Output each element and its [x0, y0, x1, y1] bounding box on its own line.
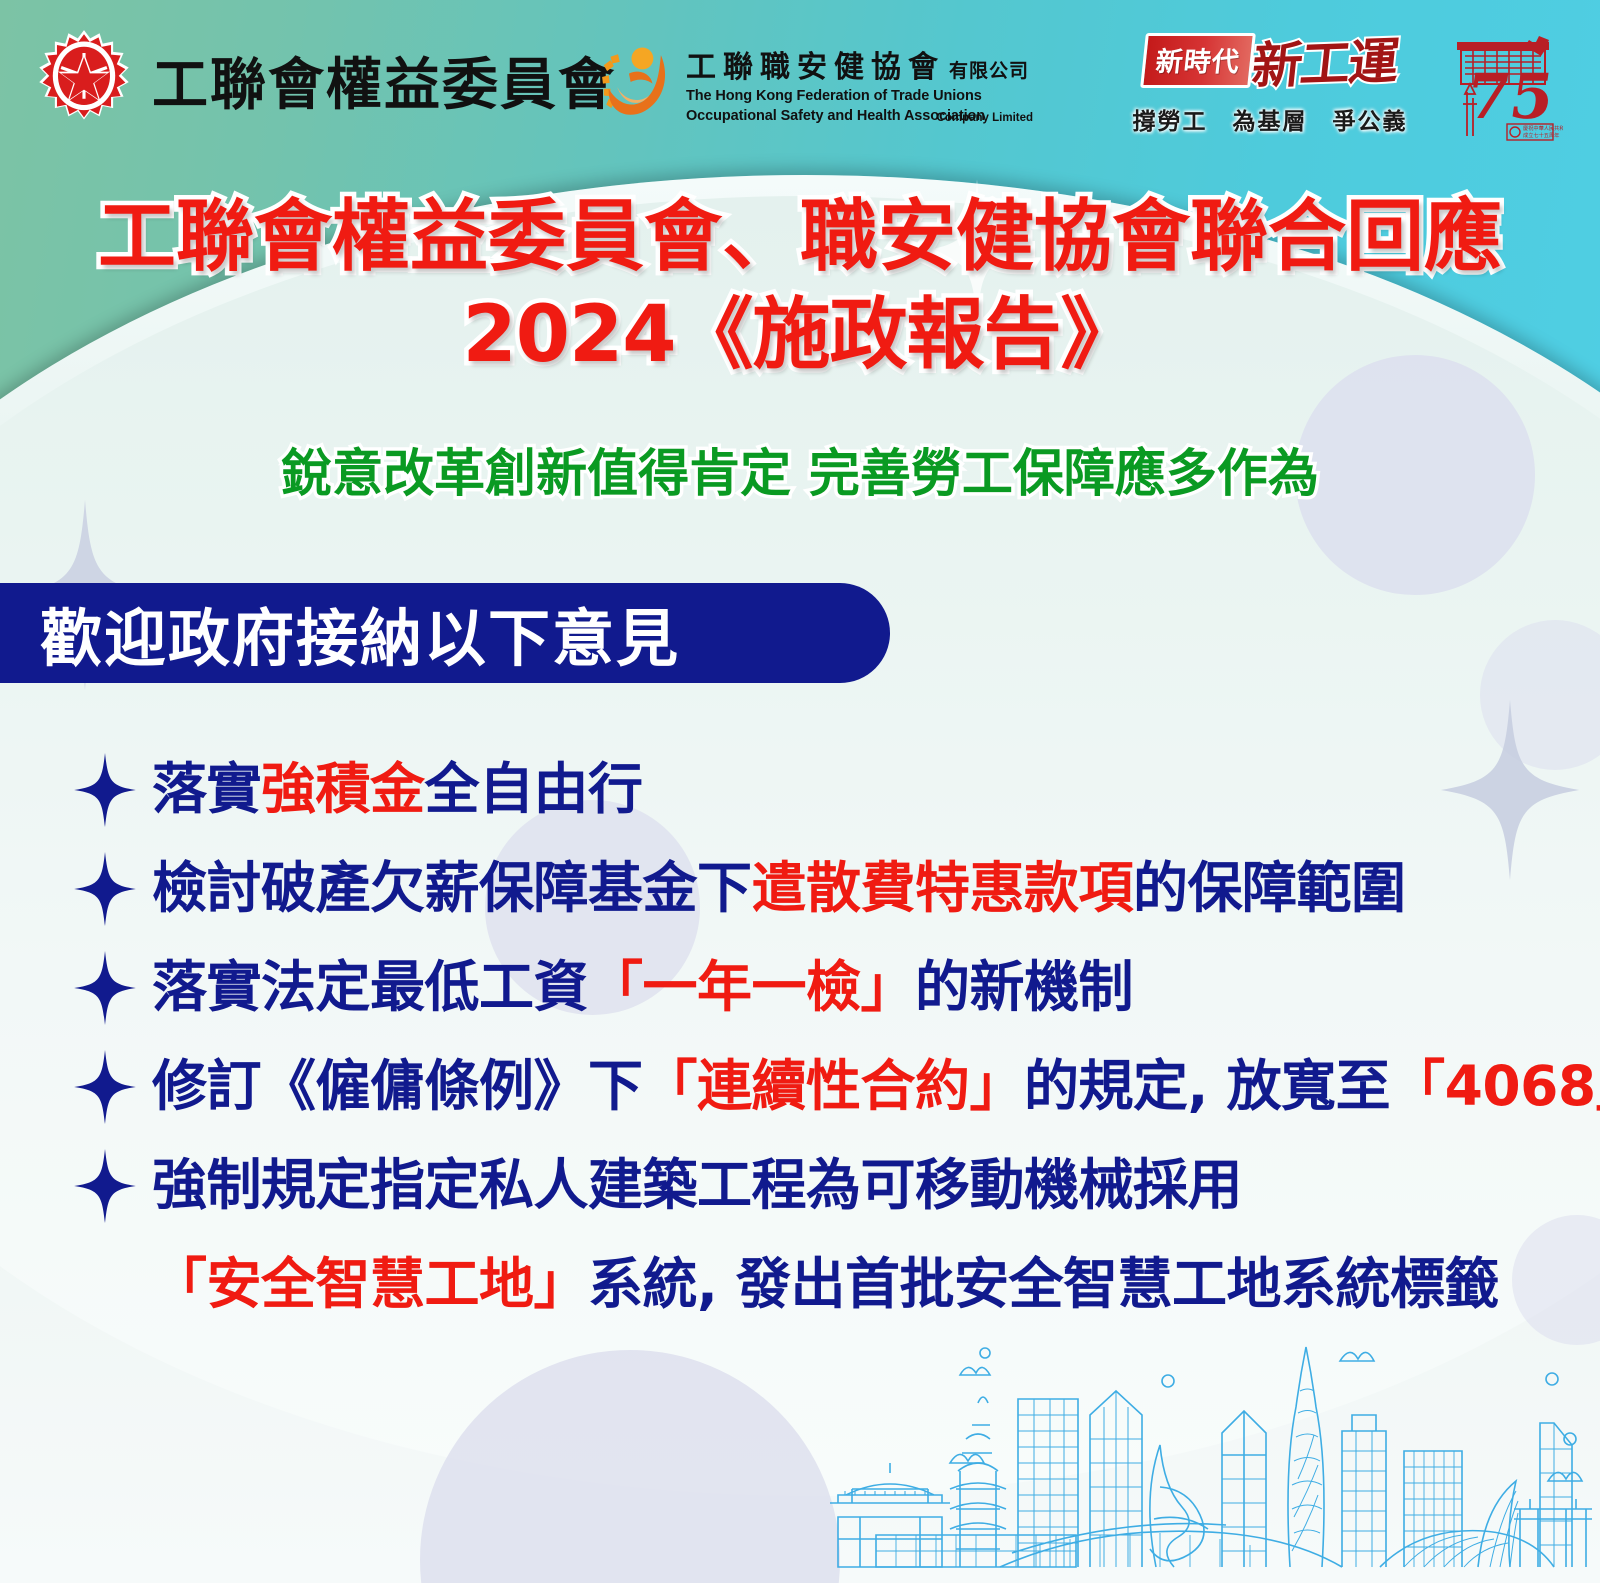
recommendation-text: 落實法定最低工資「一年一檢」的新機制 [152, 938, 1133, 1037]
title-line-1: 工聯會權益委員會、職安健協會聯合回應 [0, 188, 1600, 286]
osh-person-gear-logo-icon [592, 40, 676, 124]
four-point-star-bullet-icon [74, 1136, 152, 1235]
recommendation-text-segment: 的新機制 [915, 955, 1133, 1019]
recommendation-list: 落實強積金全自由行檢討破產欠薪保障基金下遣散費特惠款項的保障範圍落實法定最低工資… [0, 740, 1600, 1334]
four-point-star-bullet-icon [74, 1037, 152, 1136]
recommendation-text-segment: 強積金 [261, 757, 425, 821]
recommendation-text-segment: 「一年一檢」 [588, 955, 915, 1019]
recommendation-text-segment: 遣散費特惠款項 [752, 856, 1134, 920]
recommendation-text: 強制規定指定私人建築工程為可移動機械採用 [152, 1136, 1242, 1235]
recommendation-text-segment: 的規定, 放寬至 [1024, 1054, 1390, 1118]
recommendation-item: 落實法定最低工資「一年一檢」的新機制 [0, 938, 1600, 1037]
recommendation-text-segment: 檢討破產欠薪保障基金下 [152, 856, 752, 920]
section-banner: 歡迎政府接納以下意見 [0, 583, 890, 683]
recommendation-text: 修訂《僱傭條例》下「連續性合約」的規定, 放寬至「4068」 [152, 1037, 1600, 1136]
city-skyline-outline-icon [0, 1303, 1600, 1583]
recommendation-text: 「安全智慧工地」系統, 發出首批安全智慧工地系統標籤 [152, 1235, 1499, 1334]
recommendation-text-segment: 落實 [152, 757, 261, 821]
recommendation-text-segment: 落實法定最低工資 [152, 955, 588, 1019]
recommendation-text-segment: 「連續性合約」 [643, 1054, 1025, 1118]
poster-canvas: 工聯會權益委員會 [0, 0, 1600, 1583]
campaign-script-title: 新工運 [1249, 22, 1401, 99]
recommendation-text-segment: 「安全智慧工地」 [152, 1252, 588, 1316]
title-line-2: 2024《施政報告》 [0, 286, 1600, 384]
ftu-gear-star-logo-icon [32, 28, 136, 132]
recommendation-item: 「安全智慧工地」系統, 發出首批安全智慧工地系統標籤 [0, 1235, 1600, 1334]
recommendation-text-segment: 修訂《僱傭條例》下 [152, 1054, 643, 1118]
osh-chinese-name: 工聯職安健協會 有限公司 [686, 42, 1029, 86]
campaign-tag: 新時代 [1140, 33, 1256, 88]
75th-anniversary-emblem-icon: 75 慶祝中華人民共和國 成立七十五周年 [1443, 26, 1563, 146]
recommendation-item: 強制規定指定私人建築工程為可移動機械採用 [0, 1136, 1600, 1235]
recommendation-text-segment: 系統, 發出首批安全智慧工地系統標籤 [588, 1252, 1499, 1316]
four-point-star-bullet-icon [74, 839, 152, 938]
campaign-subtitle: 撐勞工 為基層 爭公義 [1105, 102, 1435, 136]
recommendation-text-segment: 「4068」 [1390, 1054, 1600, 1118]
poster-subtitle: 銳意改革創新值得肯定 完善勞工保障應多作為 [0, 432, 1600, 506]
recommendation-text: 落實強積金全自由行 [152, 740, 643, 839]
recommendation-item: 落實強積金全自由行 [0, 740, 1600, 839]
svg-text:75: 75 [1462, 60, 1558, 133]
osh-english-line1: The Hong Kong Federation of Trade Unions [686, 88, 1029, 106]
ftu-logo-text: 工聯會權益委員會 [152, 40, 616, 121]
recommendation-text-segment: 強制規定指定私人建築工程為可移動機械採用 [152, 1153, 1242, 1217]
osh-company-limited: Company Limited [937, 112, 1033, 124]
ftu-logo: 工聯會權益委員會 [32, 28, 616, 132]
osh-chinese-suffix: 有限公司 [949, 56, 1029, 83]
svg-text:慶祝中華人民共和國: 慶祝中華人民共和國 [1523, 124, 1563, 132]
campaign-slogan-logo: 新時代 新工運 撐勞工 為基層 爭公義 [1105, 24, 1435, 136]
recommendation-text: 檢討破產欠薪保障基金下遣散費特惠款項的保障範圍 [152, 839, 1406, 938]
poster-title: 工聯會權益委員會、職安健協會聯合回應 2024《施政報告》 [0, 188, 1600, 385]
four-point-star-bullet-icon [74, 740, 152, 839]
poster-header: 工聯會權益委員會 [0, 0, 1600, 160]
svg-text:成立七十五周年: 成立七十五周年 [1523, 131, 1559, 139]
recommendation-text-segment: 全自由行 [425, 757, 643, 821]
four-point-star-bullet-icon [74, 938, 152, 1037]
recommendation-item: 修訂《僱傭條例》下「連續性合約」的規定, 放寬至「4068」 [0, 1037, 1600, 1136]
recommendation-text-segment: 的保障範圍 [1133, 856, 1406, 920]
osh-logo: 工聯職安健協會 有限公司 The Hong Kong Federation of… [592, 40, 1029, 125]
osh-chinese-main: 工聯職安健協會 [686, 42, 945, 86]
section-banner-label: 歡迎政府接納以下意見 [40, 588, 680, 678]
recommendation-item: 檢討破產欠薪保障基金下遣散費特惠款項的保障範圍 [0, 839, 1600, 938]
